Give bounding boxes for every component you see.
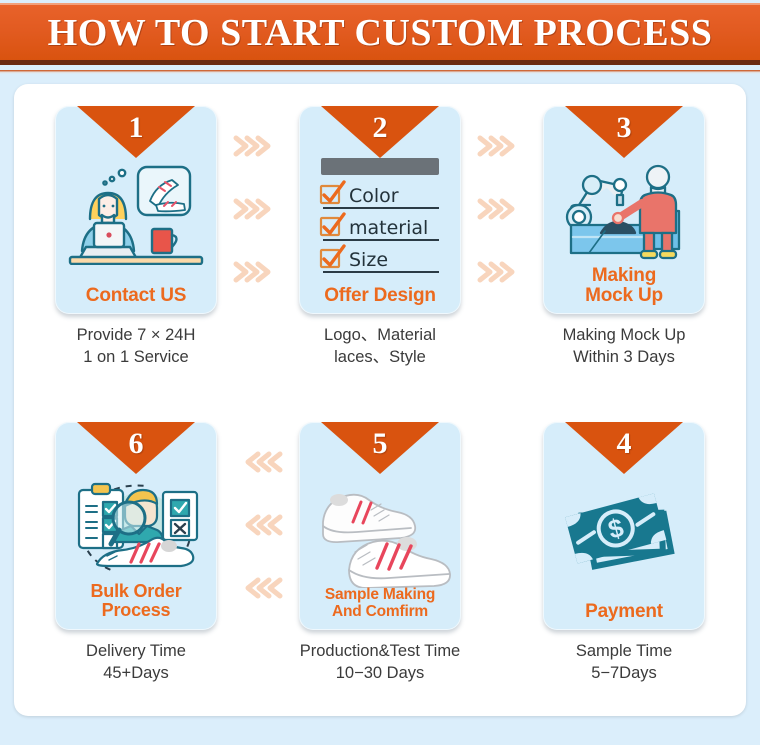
- step-number-badge-4: 4: [565, 422, 683, 477]
- step-caption-5: Production&Test Time 10−30 Days: [300, 641, 461, 685]
- step-caption-2: Logo、Material laces、Style: [324, 325, 436, 369]
- step-number-6: 6: [77, 422, 195, 466]
- step-number-badge-1: 1: [77, 106, 195, 161]
- step-card-contact-us[interactable]: 1: [55, 106, 217, 314]
- step-caption-6: Delivery Time 45+Days: [86, 641, 186, 685]
- step-cell-5: 5: [258, 400, 502, 716]
- step-number-badge-3: 3: [565, 106, 683, 161]
- step-title-3: Making Mock Up: [543, 266, 705, 306]
- step-cell-1: 1: [14, 84, 258, 400]
- quality-inspection-icon: [61, 474, 211, 584]
- step-number-5: 5: [321, 422, 439, 466]
- step-caption-1: Provide 7 × 24H 1 on 1 Service: [77, 325, 196, 369]
- step-title-5: Sample Making And Comfirm: [299, 587, 461, 620]
- checklist-label-color: Color: [349, 185, 399, 207]
- page-title: HOW TO START CUSTOM PROCESS: [48, 11, 713, 55]
- checklist-icon: Color material Size: [305, 156, 455, 274]
- step-card-bulk-order-process[interactable]: 6: [55, 422, 217, 630]
- step-caption-4: Sample Time 5−7Days: [576, 641, 672, 685]
- step-number-4: 4: [565, 422, 683, 466]
- step-cell-4: 4: [502, 400, 746, 716]
- step-number-1: 1: [77, 106, 195, 150]
- step-cell-3: 3: [502, 84, 746, 400]
- step-number-badge-6: 6: [77, 422, 195, 477]
- step-card-making-mock-up[interactable]: 3: [543, 106, 705, 314]
- step-number-badge-2: 2: [321, 106, 439, 161]
- woman-at-laptop-icon: [61, 158, 211, 268]
- step-number-badge-5: 5: [321, 422, 439, 477]
- step-number-3: 3: [565, 106, 683, 150]
- sneakers-icon: [305, 470, 455, 590]
- header-banner: HOW TO START CUSTOM PROCESS: [0, 3, 760, 65]
- step-cell-2: 2: [258, 84, 502, 400]
- step-number-2: 2: [321, 106, 439, 150]
- step-title-2: Offer Design: [299, 286, 461, 306]
- checklist-label-size: Size: [349, 249, 388, 271]
- step-title-4: Payment: [543, 602, 705, 622]
- step-title-6: Bulk Order Process: [55, 582, 217, 620]
- step-title-1: Contact US: [55, 286, 217, 306]
- robot-arm-worker-icon: [549, 158, 699, 268]
- banner-underline: [0, 70, 760, 74]
- infographic-page: HOW TO START CUSTOM PROCESS 1: [0, 0, 760, 745]
- checklist-label-material: material: [349, 217, 428, 239]
- step-cell-6: 6: [14, 400, 258, 716]
- steps-grid: 1: [14, 84, 746, 716]
- step-card-offer-design[interactable]: 2: [299, 106, 461, 314]
- step-caption-3: Making Mock Up Within 3 Days: [563, 325, 686, 369]
- step-card-payment[interactable]: 4: [543, 422, 705, 630]
- banknotes-dollar-icon: $: [549, 474, 699, 584]
- step-card-sample-making[interactable]: 5: [299, 422, 461, 630]
